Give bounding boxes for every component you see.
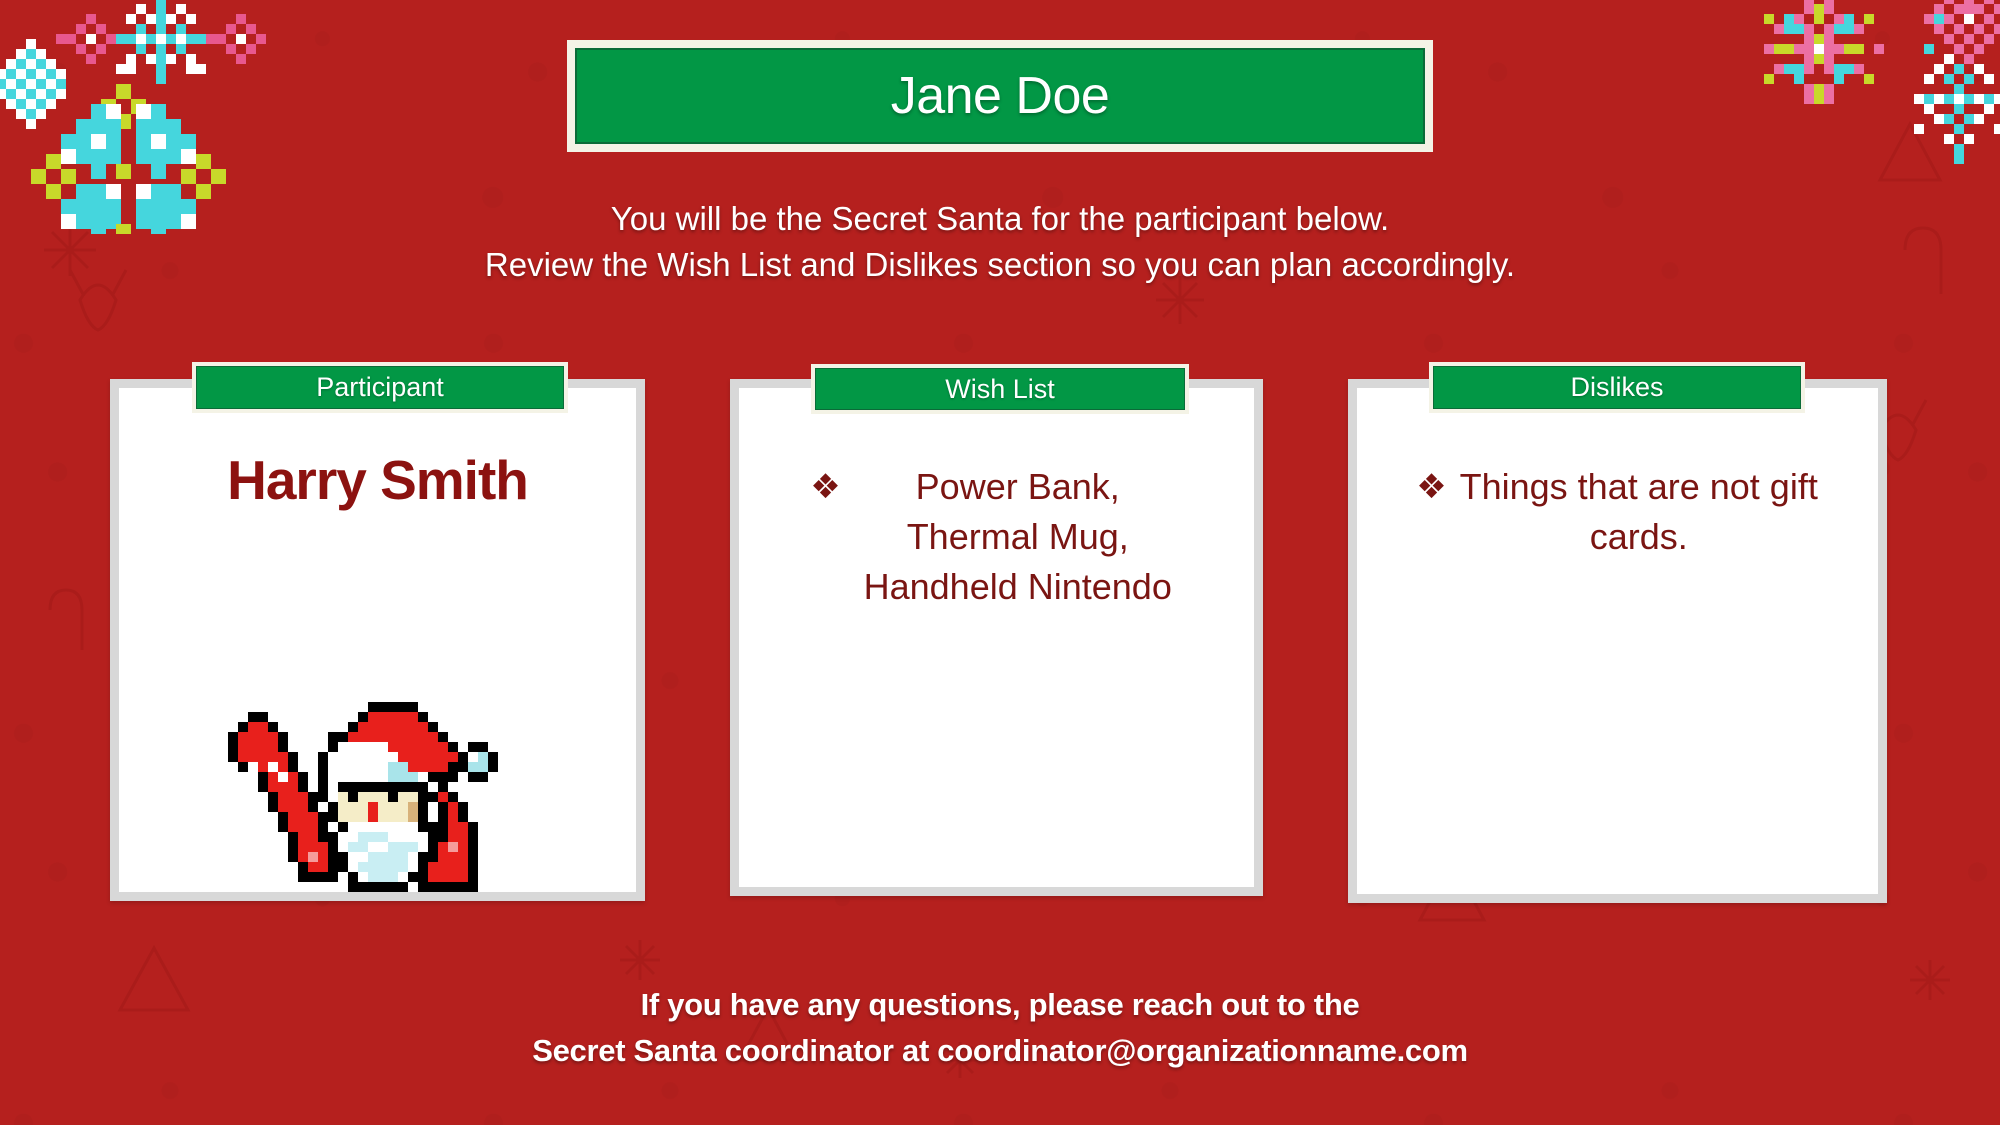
dislikes-items: ❖ Things that are not gift cards. [1391, 462, 1844, 562]
wishlist-card-header: Wish List [811, 364, 1189, 414]
intro-line-1: You will be the Secret Santa for the par… [0, 196, 2000, 242]
diamond-bullet-icon: ❖ [810, 462, 840, 512]
info-card-row: Harry Smith [0, 379, 2000, 909]
recipient-name-banner: Jane Doe [567, 40, 1433, 152]
footer-contact-text: If you have any questions, please reach … [0, 982, 2000, 1074]
wishlist-card-header-label: Wish List [945, 374, 1055, 405]
dislikes-card: ❖ Things that are not gift cards. [1348, 379, 1887, 903]
dislikes-card-body: ❖ Things that are not gift cards. [1357, 388, 1878, 894]
dislikes-card-header-label: Dislikes [1570, 372, 1663, 403]
participant-card: Harry Smith [110, 379, 645, 901]
wishlist-card: ❖ Power Bank, Thermal Mug, Handheld Nint… [730, 379, 1263, 896]
participant-name: Harry Smith [119, 448, 636, 512]
list-item: ❖ Things that are not gift cards. [1391, 462, 1844, 562]
participant-card-header: Participant [192, 362, 568, 413]
dislikes-item-text: Things that are not gift cards. [1459, 462, 1819, 562]
wishlist-card-body: ❖ Power Bank, Thermal Mug, Handheld Nint… [739, 388, 1254, 887]
footer-line-2: Secret Santa coordinator at coordinator@… [0, 1028, 2000, 1074]
list-item: ❖ Power Bank, Thermal Mug, Handheld Nint… [773, 462, 1220, 612]
intro-line-2: Review the Wish List and Dislikes sectio… [0, 242, 2000, 288]
wishlist-items: ❖ Power Bank, Thermal Mug, Handheld Nint… [773, 462, 1220, 612]
footer-line-1: If you have any questions, please reach … [0, 982, 2000, 1028]
pixel-snowflake-cluster-right [1744, 0, 2000, 174]
wishlist-card-header-inner: Wish List [815, 368, 1185, 410]
participant-card-body: Harry Smith [119, 388, 636, 892]
dislikes-card-header: Dislikes [1429, 362, 1805, 413]
participant-card-header-inner: Participant [196, 366, 564, 409]
secret-santa-card: Jane Doe You will be the Secret Santa fo… [0, 0, 2000, 1125]
diamond-bullet-icon: ❖ [1416, 462, 1446, 512]
intro-text: You will be the Secret Santa for the par… [0, 196, 2000, 288]
recipient-name: Jane Doe [891, 66, 1110, 126]
dislikes-card-header-inner: Dislikes [1433, 366, 1801, 409]
recipient-name-banner-inner: Jane Doe [575, 48, 1425, 144]
santa-waving-icon [228, 702, 528, 892]
participant-card-header-label: Participant [316, 372, 444, 403]
wishlist-item-text: Power Bank, Thermal Mug, Handheld Ninten… [853, 462, 1183, 612]
